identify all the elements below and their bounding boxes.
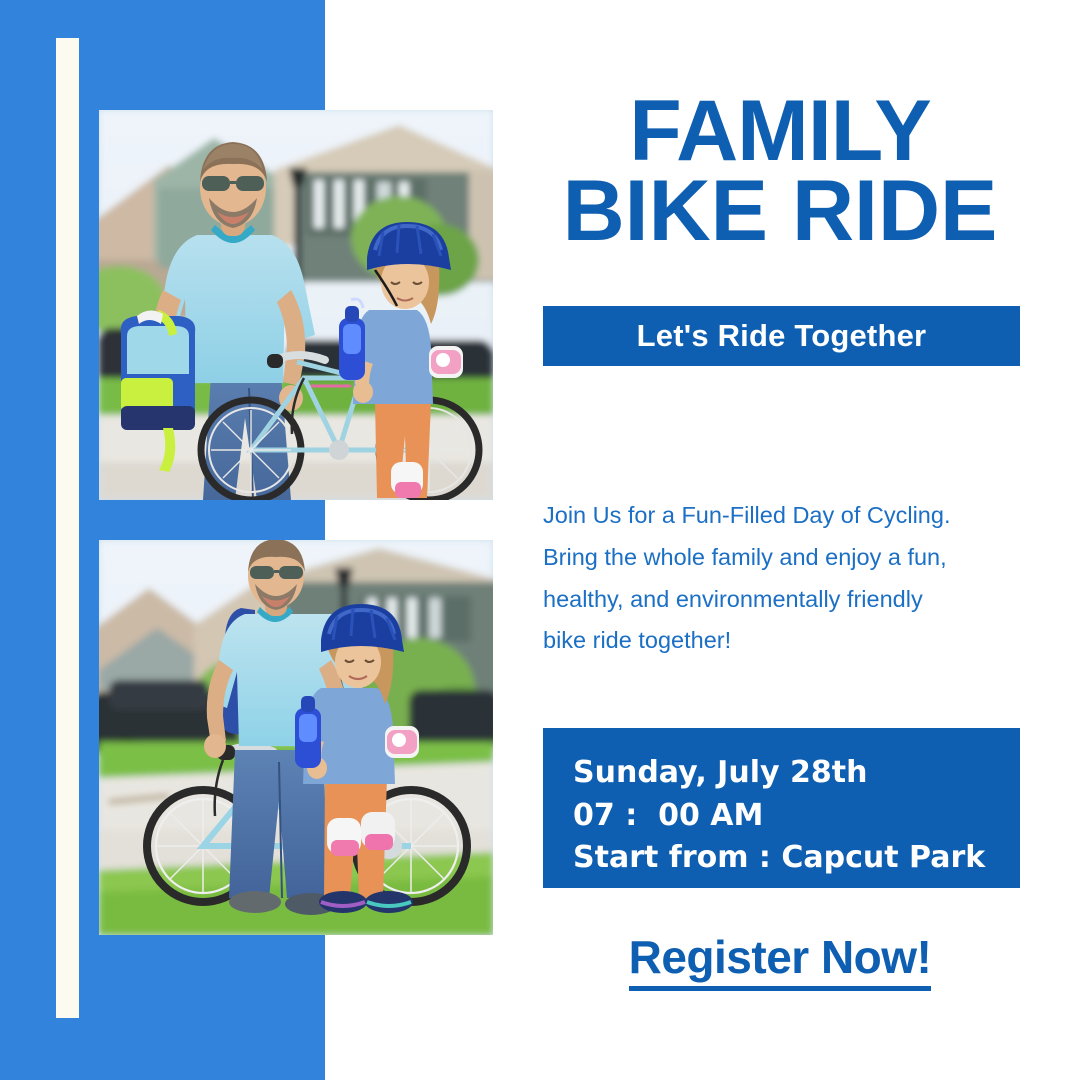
photo-top-illustration — [99, 110, 493, 500]
cream-vertical-stripe — [56, 38, 79, 1018]
body-copy: Join Us for a Fun-Filled Day of Cycling.… — [543, 495, 1023, 662]
body-line-2: Bring the whole family and enjoy a fun, — [543, 537, 1023, 579]
event-location: Start from : Capcut Park — [573, 837, 985, 880]
subtitle-band: Let's Ride Together — [543, 306, 1020, 366]
body-line-4: bike ride together! — [543, 620, 1023, 662]
headline-line-1: FAMILY — [540, 92, 1020, 172]
body-line-3: healthy, and environmentally friendly — [543, 579, 1023, 621]
subtitle-text: Let's Ride Together — [637, 318, 927, 354]
event-time: 07 : 00 AM — [573, 795, 985, 838]
register-now-link[interactable]: Register Now! — [629, 930, 932, 991]
photo-bottom-illustration — [99, 540, 493, 935]
event-date: Sunday, July 28th — [573, 752, 985, 795]
page-title: FAMILY BIKE RIDE — [540, 92, 1020, 252]
photo-father-and-child-with-bike — [99, 110, 493, 500]
cta-container: Register Now! — [540, 930, 1020, 991]
headline-line-2: BIKE RIDE — [540, 172, 1020, 252]
poster-canvas: FAMILY BIKE RIDE Let's Ride Together Joi… — [0, 0, 1080, 1080]
body-line-1: Join Us for a Fun-Filled Day of Cycling. — [543, 495, 1023, 537]
photo-father-hugging-child-by-bike — [99, 540, 493, 935]
event-details-box: Sunday, July 28th 07 : 00 AM Start from … — [543, 728, 1020, 888]
